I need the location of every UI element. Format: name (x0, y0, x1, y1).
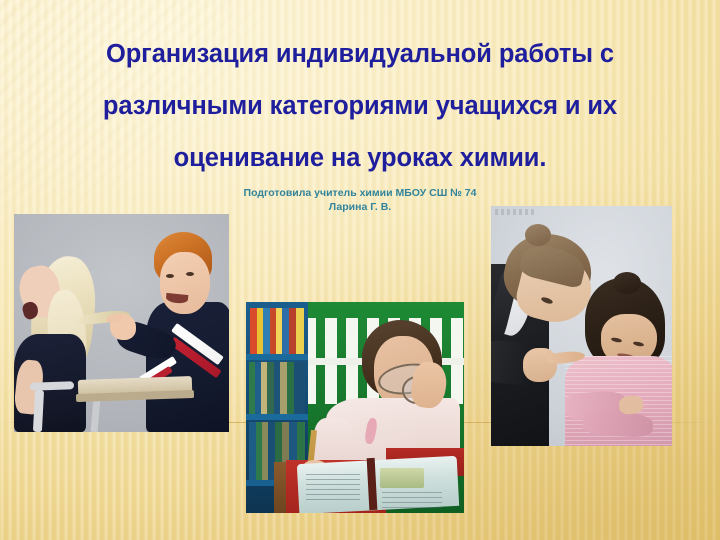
textbook-text-left-page (306, 474, 360, 504)
textbook-text-right-page (382, 492, 442, 510)
woman-hand (523, 348, 557, 382)
bookshelf-board-2 (246, 414, 308, 420)
presentation-slide: Организация индивидуальной работы с разл… (0, 0, 720, 540)
girl-hair-bun (613, 272, 641, 294)
boy-eye-left (166, 274, 174, 278)
bookshelf-board-1 (246, 354, 308, 360)
title-line-2: различными категориями учащихся и их (40, 80, 680, 132)
woman-hair-bun (525, 224, 551, 246)
bookshelf-row-top (250, 308, 304, 354)
boy-head (160, 252, 210, 314)
photo-boy-pulling-girls-hair (14, 214, 229, 432)
subtitle-line-author-role: Подготовила учитель химии МБОУ СШ № 74 (140, 186, 580, 200)
photo-watermark (495, 209, 535, 215)
slide-title: Организация индивидуальной работы с разл… (40, 28, 680, 184)
photo-tired-girl-reading (246, 302, 464, 513)
title-line-1: Организация индивидуальной работы с (40, 28, 680, 80)
photo-woman-scolding-girl (491, 206, 672, 446)
textbook-illustration (380, 468, 424, 488)
title-line-3: оценивание на уроках химии. (40, 132, 680, 184)
boy-eye-right (186, 272, 194, 276)
bookshelf-row-middle (249, 362, 305, 414)
